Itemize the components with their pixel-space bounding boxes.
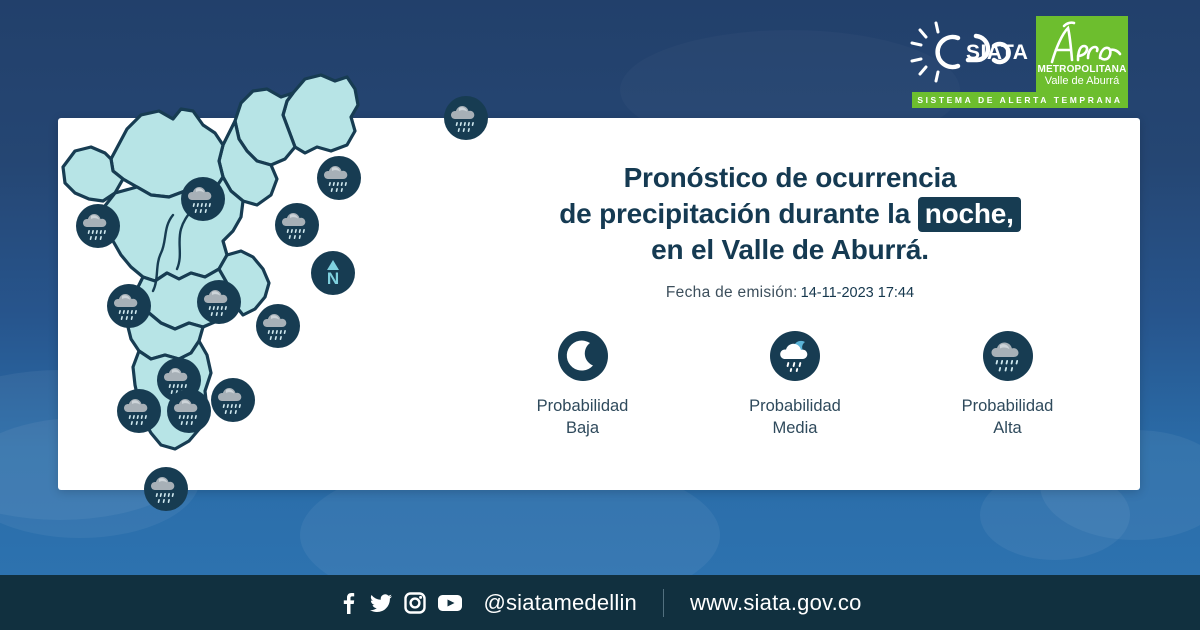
website-url[interactable]: www.siata.gov.co xyxy=(690,590,862,616)
twitter-icon[interactable] xyxy=(369,592,393,614)
map-marker-rain xyxy=(274,202,320,248)
instagram-icon[interactable] xyxy=(404,592,426,614)
tagline-bar: SISTEMA DE ALERTA TEMPRANA xyxy=(912,92,1128,108)
north-compass: N xyxy=(310,250,356,296)
legend-label-line2: Alta xyxy=(920,417,1095,439)
map-marker-rain xyxy=(443,95,489,141)
legend-label-line2: Baja xyxy=(495,417,670,439)
social-icons xyxy=(338,592,463,614)
legend-item-alta: Probabilidad Alta xyxy=(920,330,1095,439)
footer-bar: @siatamedellin www.siata.gov.co xyxy=(0,575,1200,630)
title-line-1: Pronóstico de ocurrencia xyxy=(480,160,1100,196)
area-metropolitana-logo: METROPOLITANA Valle de Aburrá xyxy=(1036,16,1128,93)
map-marker-rain xyxy=(180,176,226,222)
title-highlight-noche: noche, xyxy=(918,197,1021,232)
page-title: Pronóstico de ocurrencia de precipitació… xyxy=(480,160,1100,268)
legend-label-alta: Probabilidad Alta xyxy=(920,395,1095,439)
cloud-heavy-rain-icon xyxy=(982,330,1034,382)
legend-label-line1: Probabilidad xyxy=(708,395,883,417)
issue-date: Fecha de emisión:14-11-2023 17:44 xyxy=(480,284,1100,302)
forecast-text-panel: Pronóstico de ocurrencia de precipitació… xyxy=(480,160,1100,302)
map-marker-rain xyxy=(196,279,242,325)
logo-group: SIATA METROPOLITANA Valle xyxy=(906,16,1128,93)
legend-label-line2: Media xyxy=(708,417,883,439)
map-marker-rain xyxy=(75,203,121,249)
issue-date-label: Fecha de emisión: xyxy=(666,284,798,301)
siata-wordmark: SIATA xyxy=(966,41,1028,64)
area-script-mark xyxy=(1036,20,1128,68)
title-line-3: en el Valle de Aburrá. xyxy=(480,232,1100,268)
map-marker-rain xyxy=(255,303,301,349)
svg-text:N: N xyxy=(327,269,339,288)
map-marker-rain xyxy=(210,377,256,423)
issue-date-value: 14-11-2023 17:44 xyxy=(801,285,914,301)
moon-icon xyxy=(557,330,609,382)
legend-item-baja: Probabilidad Baja xyxy=(495,330,670,439)
tagline-text: SISTEMA DE ALERTA TEMPRANA xyxy=(917,95,1122,105)
legend-label-baja: Probabilidad Baja xyxy=(495,395,670,439)
legend-label-media: Probabilidad Media xyxy=(708,395,883,439)
infographic-root: N Pronóstico de ocur xyxy=(0,0,1200,630)
title-line-2-text: de precipitación durante la xyxy=(559,198,910,229)
legend-item-media: Probabilidad Media xyxy=(708,330,883,439)
facebook-icon[interactable] xyxy=(338,592,358,614)
map-marker-rain xyxy=(166,388,212,434)
social-handle[interactable]: @siatamedellin xyxy=(483,590,637,616)
map-marker-rain xyxy=(143,466,189,512)
map-marker-rain xyxy=(106,283,152,329)
title-line-2: de precipitación durante la noche, xyxy=(480,196,1100,232)
legend-label-line1: Probabilidad xyxy=(920,395,1095,417)
siata-logo: SIATA xyxy=(906,16,1028,88)
footer-divider xyxy=(663,589,664,617)
youtube-icon[interactable] xyxy=(437,593,463,613)
probability-legend: Probabilidad Baja xyxy=(495,330,1095,439)
map-marker-rain xyxy=(116,388,162,434)
cloud-moon-rain-icon xyxy=(769,330,821,382)
area-logo-line2: Valle de Aburrá xyxy=(1045,75,1119,88)
map-marker-rain xyxy=(316,155,362,201)
legend-label-line1: Probabilidad xyxy=(495,395,670,417)
